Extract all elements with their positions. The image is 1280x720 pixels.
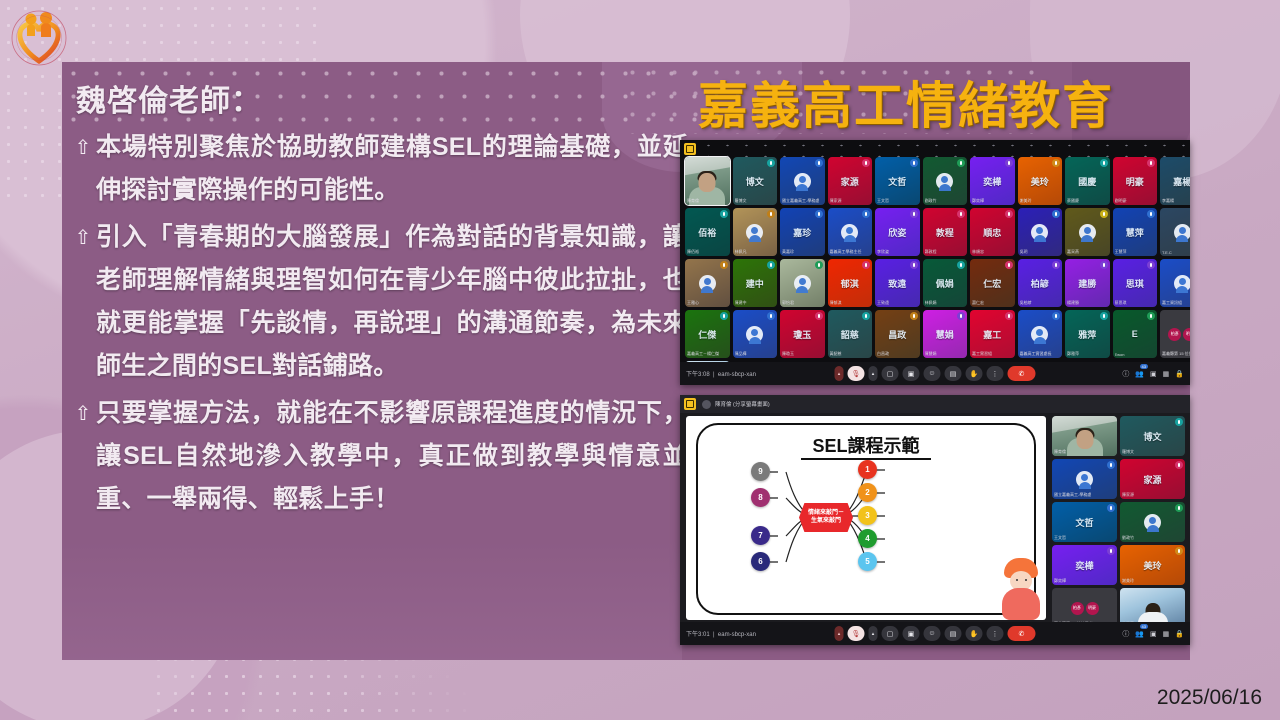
- participant-tile[interactable]: 陳育倫: [685, 157, 730, 205]
- presentation-participant-strip: 陳育倫博文羅博文國立嘉義高工-學務處家源陳家源文哲王文哲劉政竹奕樺鄭奕樺美玲謝美…: [1052, 416, 1185, 628]
- more-options-button[interactable]: ⋮: [987, 626, 1004, 641]
- captions-button[interactable]: ▣: [903, 366, 920, 381]
- bullet-item-2: ⇧ 引入「青春期的大腦發展」作為對話的背景知識，讓老師理解情緒與理智如何在青少年…: [70, 216, 688, 388]
- mic-status-icon: [1147, 159, 1155, 167]
- mindmap-center-node: 情緒來敲門－ 生氣來敲門: [799, 503, 853, 532]
- avatar: [1079, 224, 1096, 241]
- mic-status-icon: [1107, 547, 1115, 555]
- participant-name: 嘉義高工學務主任: [830, 249, 862, 255]
- camera-options-caret-icon[interactable]: ▴: [869, 366, 878, 381]
- participant-name: 陳建中: [735, 300, 747, 306]
- mic-status-icon: [720, 261, 728, 269]
- bullet-item-1: ⇧ 本場特別聚焦於協助教師建構SEL的理論基礎，並延伸探討實際操作的可能性。: [70, 126, 688, 212]
- participant-name: 嘉采燕: [1067, 249, 1079, 255]
- meeting-bottom-bar: 下午3:08 | eam-sbcp-xan ▴ 🎙 ▴ ▢ ▣ ☺ ▤ ✋ ⋮ …: [680, 362, 1190, 385]
- leave-call-button[interactable]: ✆: [1008, 366, 1036, 381]
- participant-tile[interactable]: 文哲王文哲: [875, 157, 920, 205]
- slide-headline: 嘉義高工情緒教育: [698, 66, 1114, 138]
- mic-status-icon: [1052, 261, 1060, 269]
- participant-initial: 博文: [746, 175, 764, 188]
- participant-tile[interactable]: 慧萍王慧萍: [1113, 208, 1158, 256]
- participant-tile[interactable]: 思琪蔡思琪: [1113, 259, 1158, 307]
- participant-tile[interactable]: 欣姿李欣姿: [875, 208, 920, 256]
- participant-tile[interactable]: T.E.C: [1160, 208, 1190, 256]
- participant-initial: 奕樺: [1075, 559, 1093, 572]
- chat-icon[interactable]: ▣: [1150, 370, 1157, 378]
- mic-status-icon: [957, 210, 965, 218]
- participant-name: 李嘉楊: [1162, 198, 1174, 204]
- center-line-1: 情緒來敲門－: [808, 510, 844, 518]
- mic-options-caret-icon[interactable]: ▴: [835, 626, 844, 641]
- participant-tile[interactable]: 國慶蔡國慶: [1065, 157, 1110, 205]
- participant-tile[interactable]: 美玲謝美玲: [1018, 157, 1063, 205]
- participant-name: 劉政竹: [925, 198, 937, 204]
- bullet-text-3: 只要掌握方法，就能在不影響原課程進度的情況下，讓SEL自然地滲入教學中，真正做到…: [96, 392, 688, 521]
- participant-tile[interactable]: 慧娟陳慧娟: [923, 310, 968, 358]
- avatar: [794, 173, 811, 190]
- participant-initial: E: [1132, 329, 1138, 339]
- mic-status-icon: [862, 159, 870, 167]
- participant-name: 白昌政: [877, 351, 889, 357]
- participant-name: 謝美玲: [1020, 198, 1032, 204]
- participant-initial: 柏諺: [1031, 277, 1049, 290]
- participant-name: 陳育倫: [687, 198, 699, 204]
- avatar: [1174, 224, 1190, 241]
- participant-tile[interactable]: EEwon: [1113, 310, 1158, 358]
- mindmap-node: 3: [858, 506, 877, 525]
- avatar: [699, 275, 716, 292]
- participant-tile[interactable]: 美玲謝美玲: [1120, 545, 1185, 585]
- participant-initial: 美玲: [1143, 559, 1161, 572]
- panel-bottom-glow: [62, 540, 682, 660]
- mindmap-node: 7: [751, 526, 770, 545]
- heart-family-logo: [7, 6, 71, 70]
- participant-tile[interactable]: 仁傑嘉義高工－楊仁傑: [685, 310, 730, 358]
- participant-initial: 美玲: [1031, 175, 1049, 188]
- presentation-bottom-bar: 下午3:01 | eam-sbcp-xan ▴ 🎙 ▴ ▢ ▣ ☺ ▤ ✋ ⋮ …: [680, 622, 1190, 645]
- leave-call-button[interactable]: ✆: [1008, 626, 1036, 641]
- mic-status-icon: [862, 210, 870, 218]
- reactions-button[interactable]: ☺: [924, 366, 941, 381]
- participant-initial: 慧萍: [1126, 226, 1144, 239]
- mic-status-icon: [1175, 461, 1183, 469]
- participant-name: 羅博文: [735, 198, 747, 204]
- participant-initial: 仁宏: [983, 277, 1001, 290]
- meeting-status-bottom: 下午3:01 | eam-sbcp-xan: [686, 629, 756, 638]
- participant-name: 嘉工資訊組: [1162, 300, 1182, 306]
- participant-initial: 明豪: [1126, 175, 1144, 188]
- participant-tile[interactable]: 奕樺鄭奕樺: [1052, 545, 1117, 585]
- participant-tile[interactable]: 博文羅博文: [733, 157, 778, 205]
- mindmap-node: 1: [858, 460, 877, 479]
- participant-tile[interactable]: 建中陳建中: [733, 259, 778, 307]
- participant-tile[interactable]: 柏諺吳柏諺: [1018, 259, 1063, 307]
- mic-status-icon: [957, 261, 965, 269]
- host-controls-icon[interactable]: 🔒: [1175, 370, 1184, 378]
- participant-name: 王文哲: [877, 198, 889, 204]
- mindmap-node: 8: [751, 488, 770, 507]
- participant-name: 陳家源: [830, 198, 842, 204]
- participant-name: 嘉義高工－楊仁傑: [687, 351, 719, 357]
- mic-status-icon: [1147, 261, 1155, 269]
- participant-tile[interactable]: 家源陳家源: [1120, 459, 1185, 499]
- participant-name: 鄭雅萍: [1067, 351, 1079, 357]
- participant-name: 國立嘉義高工-學務處: [782, 198, 819, 204]
- participant-tile[interactable]: 柏彥明豪嘉義縣第 15 位使用者: [1160, 310, 1190, 358]
- mindmap-node: 5: [858, 552, 877, 571]
- participant-initial: 文哲: [888, 175, 906, 188]
- participant-name: 林佩凡: [735, 249, 747, 255]
- mic-status-icon: [1005, 159, 1013, 167]
- participant-tile[interactable]: 博文羅博文: [1120, 416, 1185, 456]
- bullet-arrow-icon: ⇧: [70, 392, 96, 435]
- meeting-controls: ▴ 🎙 ▴ ▢ ▣ ☺ ▤ ✋ ⋮ ✆: [835, 626, 1036, 641]
- mic-status-icon: [767, 261, 775, 269]
- avatar: [1144, 514, 1161, 531]
- participant-name: 鄭奕樺: [1054, 578, 1066, 584]
- participant-initial: 佰裕: [698, 226, 716, 239]
- participant-tile[interactable]: 劉政竹: [1120, 502, 1185, 542]
- mic-status-icon: [1147, 312, 1155, 320]
- camera-toggle-button[interactable]: ▢: [882, 626, 899, 641]
- participant-name: 林佩娟: [925, 300, 937, 306]
- participant-tile[interactable]: 仁宏蕭仁宏: [970, 259, 1015, 307]
- presentation-top-bar: 陳育倫 (分享螢幕畫面): [680, 395, 1190, 413]
- raise-hand-button[interactable]: ✋: [966, 366, 983, 381]
- participant-initial: 佩娟: [936, 277, 954, 290]
- participant-name: Ewon: [1115, 352, 1125, 357]
- participant-name: 蔡國慶: [1067, 198, 1079, 204]
- participant-name: 黃嘉珍: [782, 249, 794, 255]
- mic-status-icon: [1100, 159, 1108, 167]
- participant-name: 王雅心: [687, 300, 699, 306]
- participant-initial: 嘉楊: [1173, 175, 1190, 188]
- participant-initial: 雅萍: [1078, 328, 1096, 341]
- mic-status-icon: [1147, 210, 1155, 218]
- camera-options-caret-icon[interactable]: ▴: [869, 626, 878, 641]
- participant-tile[interactable]: 佰裕陳佰裕: [685, 208, 730, 256]
- mic-status-icon: [910, 312, 918, 320]
- participant-tile[interactable]: 陳品樺: [733, 310, 778, 358]
- mic-status-icon: [862, 261, 870, 269]
- mic-status-icon: [767, 210, 775, 218]
- mic-status-icon: [862, 312, 870, 320]
- bullet-item-3: ⇧ 只要掌握方法，就能在不影響原課程進度的情況下，讓SEL自然地滲入教學中，真正…: [70, 392, 688, 521]
- meeting-right-controls: 43 ⓘ 👥 ▣ ▦ 🔒: [1122, 369, 1184, 379]
- participant-name: T.E.C: [1162, 250, 1172, 255]
- mic-status-icon: [815, 210, 823, 218]
- mic-status-icon: [910, 261, 918, 269]
- more-options-button[interactable]: ⋮: [987, 366, 1004, 381]
- captions-button[interactable]: ▣: [903, 626, 920, 641]
- participant-name: 陳佰裕: [687, 249, 699, 255]
- participant-tile[interactable]: 建勝楊建勝: [1065, 259, 1110, 307]
- participant-tile[interactable]: 郭怡君: [780, 259, 825, 307]
- participant-tile[interactable]: 王雅心: [685, 259, 730, 307]
- participant-tile[interactable]: 致遠王致遠: [875, 259, 920, 307]
- activities-icon[interactable]: ▦: [1163, 370, 1170, 378]
- meeting-details-icon[interactable]: ⓘ: [1122, 369, 1129, 379]
- meeting-window-gallery[interactable]: 陳育倫博文羅博文國立嘉義高工-學務處家源陳家源文哲王文哲劉政竹奕樺鄭奕樺美玲謝美…: [680, 140, 1190, 385]
- app-badge-icon: [684, 143, 696, 155]
- meeting-window-presentation[interactable]: 陳育倫 (分享螢幕畫面) SEL課程示範: [680, 395, 1190, 645]
- participant-initial: 致遠: [888, 277, 906, 290]
- participant-name: 王文哲: [1054, 535, 1066, 541]
- participant-tile[interactable]: 嘉義高工實習處長: [1018, 310, 1063, 358]
- avatar: [1031, 326, 1048, 343]
- mic-status-icon: [815, 312, 823, 320]
- mic-status-icon: [767, 159, 775, 167]
- mic-status-icon: [910, 159, 918, 167]
- meeting-right-controls: 43 ⓘ 👥 ▣ ▦ 🔒: [1122, 629, 1184, 639]
- camera-toggle-button[interactable]: ▢: [882, 366, 899, 381]
- activities-icon[interactable]: ▦: [1163, 630, 1170, 638]
- mic-status-icon: [1100, 261, 1108, 269]
- meeting-controls: ▴ 🎙 ▴ ▢ ▣ ☺ ▤ ✋ ⋮ ✆: [835, 366, 1036, 381]
- participant-initial: 思琪: [1126, 277, 1144, 290]
- bullet-arrow-icon: ⇧: [70, 126, 96, 169]
- speaker-name: 魏啓倫老師：: [76, 76, 688, 120]
- participant-initial: 瓊玉: [793, 328, 811, 341]
- participant-tile[interactable]: 韶慈黃韶慈: [828, 310, 873, 358]
- avatar: [1174, 275, 1190, 292]
- mindmap-node: 9: [751, 462, 770, 481]
- participant-tile[interactable]: 嘉工資訊組: [1160, 259, 1190, 307]
- mic-toggle-button[interactable]: 🎙: [848, 366, 865, 381]
- mic-status-icon: [1052, 159, 1060, 167]
- mic-status-icon: [1005, 210, 1013, 218]
- participant-name: 陳育倫: [1054, 449, 1066, 455]
- presenter-avatar: [702, 400, 711, 409]
- participant-name: 陳慧娟: [925, 351, 937, 357]
- participant-name: 陳家源: [1122, 492, 1134, 498]
- participant-initial: 博文: [1143, 430, 1161, 443]
- mic-status-icon: [1107, 461, 1115, 469]
- participant-tile[interactable]: 嘉采燕: [1065, 208, 1110, 256]
- avatar: [1076, 471, 1093, 488]
- mic-status-icon: [1175, 547, 1183, 555]
- participant-initial: 家源: [1143, 473, 1161, 486]
- participant-name: 劉政竹: [1122, 535, 1134, 541]
- participant-tile[interactable]: 家源陳家源: [828, 157, 873, 205]
- participant-initial: 建勝: [1078, 277, 1096, 290]
- host-controls-icon[interactable]: 🔒: [1175, 630, 1184, 638]
- present-screen-button[interactable]: ▤: [945, 626, 962, 641]
- participant-initial: 仁傑: [698, 328, 716, 341]
- participant-initial: 順忠: [983, 226, 1001, 239]
- participant-name: 陳品樺: [735, 351, 747, 357]
- participant-tile[interactable]: 嘉楊李嘉楊: [1160, 157, 1190, 205]
- participant-tile[interactable]: 佩娟林佩娟: [923, 259, 968, 307]
- participant-initial: 奕樺: [983, 175, 1001, 188]
- mic-status-icon: [720, 210, 728, 218]
- mic-status-icon: [815, 261, 823, 269]
- participant-name: 蕭仁宏: [972, 300, 984, 306]
- mic-status-icon: [815, 159, 823, 167]
- shared-slide: SEL課程示範 情緒來敲門－: [686, 416, 1046, 620]
- participant-name: 劉明豪: [1115, 198, 1127, 204]
- participants-icon[interactable]: 👥: [1135, 370, 1144, 378]
- participant-name: 嘉工實習組: [972, 351, 992, 357]
- participant-tile[interactable]: 嘉珍黃嘉珍: [780, 208, 825, 256]
- participant-tile[interactable]: 嘉工嘉工實習組: [970, 310, 1015, 358]
- mic-status-icon: [1005, 312, 1013, 320]
- mic-status-icon: [1052, 210, 1060, 218]
- avatar: [746, 326, 763, 343]
- participant-name: 羅博文: [1122, 449, 1134, 455]
- participant-tile[interactable]: 嘉義高工學務主任: [828, 208, 873, 256]
- mindmap-node: 2: [858, 483, 877, 502]
- bullet-text-1: 本場特別聚焦於協助教師建構SEL的理論基礎，並延伸探討實際操作的可能性。: [96, 126, 688, 212]
- avatar: [746, 224, 763, 241]
- participant-tile[interactable]: 昌政白昌政: [875, 310, 920, 358]
- participant-tile[interactable]: 陳育倫: [1052, 416, 1117, 456]
- avatar: [1031, 224, 1048, 241]
- mic-status-icon: [720, 312, 728, 320]
- participant-tile[interactable]: 文哲王文哲: [1052, 502, 1117, 542]
- participant-initial: 韶慈: [841, 328, 859, 341]
- participant-name: 陳瓊玉: [782, 351, 794, 357]
- participant-tile[interactable]: 林佩凡: [733, 208, 778, 256]
- participant-initial: 嘉珍: [793, 226, 811, 239]
- participant-initial: 嘉工: [983, 328, 1001, 341]
- mic-status-icon: [1175, 418, 1183, 426]
- participant-tile[interactable]: 敦程鄭敦程: [923, 208, 968, 256]
- mindmap-node: 6: [751, 552, 770, 571]
- speaker-notes-column: 魏啓倫老師： ⇧ 本場特別聚焦於協助教師建構SEL的理論基礎，並延伸探討實際操作…: [70, 66, 688, 525]
- chat-icon[interactable]: ▣: [1150, 630, 1157, 638]
- participant-name: 謝美玲: [1122, 578, 1134, 584]
- slide-date: 2025/06/16: [1157, 686, 1262, 710]
- presentation-slide: 魏啓倫老師： ⇧ 本場特別聚焦於協助教師建構SEL的理論基礎，並延伸探討實際操作…: [0, 0, 1280, 720]
- present-screen-button[interactable]: ▤: [945, 366, 962, 381]
- mic-status-icon: [1100, 210, 1108, 218]
- mic-status-icon: [1052, 312, 1060, 320]
- participant-name: 林順忠: [972, 249, 984, 255]
- participant-name: 鄭敦程: [925, 249, 937, 255]
- participant-initial: 敦程: [936, 226, 954, 239]
- participant-tile[interactable]: 明豪劉明豪: [1113, 157, 1158, 205]
- participant-initial: 欣姿: [888, 226, 906, 239]
- participant-tile[interactable]: 順忠林順忠: [970, 208, 1015, 256]
- app-badge-icon: [684, 398, 696, 410]
- mic-options-caret-icon[interactable]: ▴: [835, 366, 844, 381]
- participant-name: 國立嘉義高工-學務處: [1054, 492, 1091, 498]
- participant-name: 吳玥: [1020, 249, 1028, 255]
- mic-status-icon: [1175, 504, 1183, 512]
- participant-initial: 建中: [746, 277, 764, 290]
- meeting-details-icon[interactable]: ⓘ: [1122, 629, 1129, 639]
- presenting-label: 陳育倫 (分享螢幕畫面): [715, 400, 770, 408]
- participant-initial: 郁淇: [841, 277, 859, 290]
- avatar: [936, 173, 953, 190]
- mic-toggle-button[interactable]: 🎙: [848, 626, 865, 641]
- participant-name: 郭怡君: [782, 300, 794, 306]
- participant-tile[interactable]: 國立嘉義高工-學務處: [1052, 459, 1117, 499]
- participant-name: 王致遠: [877, 300, 889, 306]
- mic-status-icon: [767, 312, 775, 320]
- mascot-illustration: [1000, 558, 1042, 620]
- participant-tile[interactable]: 劉政竹: [923, 157, 968, 205]
- raise-hand-button[interactable]: ✋: [966, 626, 983, 641]
- mic-status-icon: [1107, 504, 1115, 512]
- bullet-arrow-icon: ⇧: [70, 216, 96, 259]
- participant-initial: 家源: [841, 175, 859, 188]
- participant-initial: 文哲: [1075, 516, 1093, 529]
- participant-tile[interactable]: 瓊玉陳瓊玉: [780, 310, 825, 358]
- participant-initial: 昌政: [888, 328, 906, 341]
- participant-name: 吳柏諺: [1020, 300, 1032, 306]
- center-line-2: 生氣來敲門: [811, 518, 841, 526]
- participant-initial: 國慶: [1078, 175, 1096, 188]
- bullet-text-2: 引入「青春期的大腦發展」作為對話的背景知識，讓老師理解情緒與理智如何在青少年腦中…: [96, 216, 688, 388]
- participant-tile[interactable]: 雅萍鄭雅萍: [1065, 310, 1110, 358]
- participant-name: 蔡思琪: [1115, 300, 1127, 306]
- participant-name: 李欣姿: [877, 249, 889, 255]
- mic-status-icon: [1100, 312, 1108, 320]
- reactions-button[interactable]: ☺: [924, 626, 941, 641]
- avatar: [794, 275, 811, 292]
- avatar: [841, 224, 858, 241]
- participant-tile[interactable]: 郁淇陳郁淇: [828, 259, 873, 307]
- mic-status-icon: [910, 210, 918, 218]
- participant-name: 陳郁淇: [830, 300, 842, 306]
- participant-tile[interactable]: 吳玥: [1018, 208, 1063, 256]
- meeting-status-top: 下午3:08 | eam-sbcp-xan: [686, 369, 756, 378]
- participant-name: 嘉義縣第 15 位使用者: [1162, 351, 1190, 357]
- participant-tile[interactable]: 奕樺鄭奕樺: [970, 157, 1015, 205]
- participant-tile[interactable]: 國立嘉義高工-學務處: [780, 157, 825, 205]
- participant-count-badge: 43: [1140, 364, 1148, 369]
- participant-name: 鄭奕樺: [972, 198, 984, 204]
- mic-status-icon: [1005, 261, 1013, 269]
- participant-name: 嘉義高工實習處長: [1020, 351, 1052, 357]
- participant-count-badge: 43: [1140, 624, 1148, 629]
- participant-name: 楊建勝: [1067, 300, 1079, 306]
- mic-status-icon: [957, 312, 965, 320]
- participant-name: 王慧萍: [1115, 249, 1127, 255]
- mindmap-node: 4: [858, 529, 877, 548]
- participants-icon[interactable]: 👥: [1135, 630, 1144, 638]
- participant-name: 黃韶慈: [830, 351, 842, 357]
- participant-grid: 陳育倫博文羅博文國立嘉義高工-學務處家源陳家源文哲王文哲劉政竹奕樺鄭奕樺美玲謝美…: [685, 157, 1190, 385]
- mic-status-icon: [957, 159, 965, 167]
- participant-initial: 慧娟: [936, 328, 954, 341]
